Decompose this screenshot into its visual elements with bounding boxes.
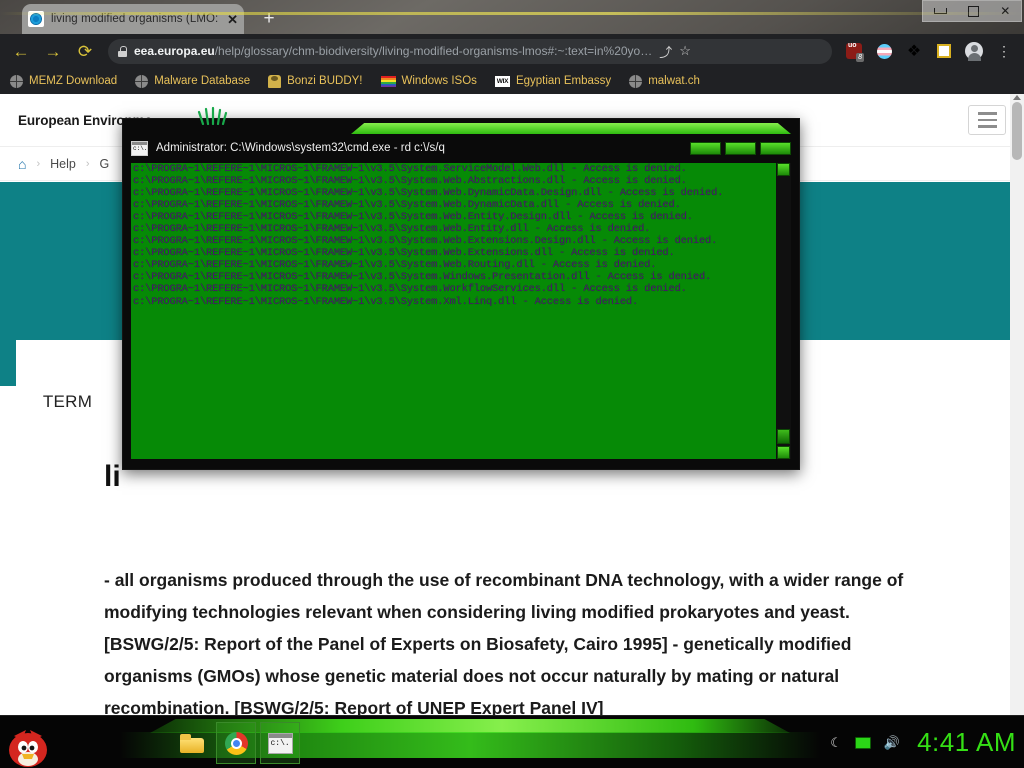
- cmd-scroll-up-arrow-icon[interactable]: [777, 163, 790, 176]
- lock-icon: [118, 46, 127, 57]
- browser-toolbar: ← → ⟳ eea.europa.eu/help/glossary/chm-bi…: [0, 34, 1024, 68]
- reload-button[interactable]: ⟳: [72, 38, 98, 64]
- cmd-window-title: Administrator: C:\Windows\system32\cmd.e…: [156, 142, 682, 154]
- back-button[interactable]: ←: [8, 38, 34, 64]
- bookmark-egyptian-embassy[interactable]: WIX Egyptian Embassy: [495, 75, 611, 87]
- browser-tab[interactable]: living modified organisms (LMO: ✕: [22, 4, 244, 34]
- cmd-close-button[interactable]: [760, 142, 791, 155]
- bookmark-bonzi-buddy[interactable]: Bonzi BUDDY!: [268, 75, 362, 88]
- scroll-up-arrow-icon[interactable]: [1013, 95, 1021, 100]
- chrome-icon: [225, 732, 248, 755]
- bookmark-label: MEMZ Download: [29, 75, 117, 87]
- page-title: li: [104, 460, 121, 494]
- bookmarks-bar: MEMZ Download Malware Database Bonzi BUD…: [0, 68, 1024, 94]
- page-scrollbar[interactable]: [1010, 94, 1024, 715]
- forward-button[interactable]: →: [40, 38, 66, 64]
- wix-icon: WIX: [495, 76, 510, 87]
- screen: living modified organisms (LMO: ✕ + ✕ ← …: [0, 0, 1024, 768]
- cmd-scrollbar[interactable]: [776, 163, 791, 459]
- breadcrumb-item-help[interactable]: Help: [50, 157, 76, 171]
- bookmark-malware-database[interactable]: Malware Database: [135, 75, 250, 88]
- bookmark-star-icon[interactable]: ☆: [679, 43, 691, 59]
- trans-flag-extension-icon[interactable]: [872, 39, 896, 63]
- url-path: /help/glossary/chm-biodiversity/living-m…: [215, 44, 653, 58]
- spray-decoration: [195, 105, 231, 125]
- hamburger-menu-icon[interactable]: [968, 105, 1006, 135]
- taskbar-item-command-prompt[interactable]: [260, 722, 300, 764]
- bookmark-label: Windows ISOs: [402, 75, 477, 87]
- home-icon[interactable]: ⌂: [18, 157, 26, 171]
- bookmark-label: Bonzi BUDDY!: [287, 75, 362, 87]
- cmd-title-bar[interactable]: Administrator: C:\Windows\system32\cmd.e…: [123, 135, 799, 161]
- globe-icon: [629, 75, 642, 88]
- command-prompt-window[interactable]: Administrator: C:\Windows\system32\cmd.e…: [122, 118, 800, 470]
- bookmark-label: Egyptian Embassy: [516, 75, 611, 87]
- window-glow-decoration: [351, 123, 791, 134]
- tab-title: living modified organisms (LMO:: [51, 13, 220, 25]
- new-tab-button[interactable]: +: [258, 9, 280, 31]
- definition-text: - all organisms produced through the use…: [104, 564, 904, 715]
- bookmark-windows-isos[interactable]: Windows ISOs: [381, 75, 477, 87]
- cmd-window-buttons: [690, 142, 791, 155]
- url-text: eea.europa.eu/help/glossary/chm-biodiver…: [134, 44, 652, 58]
- cmd-icon: [268, 733, 293, 754]
- ublock-extension-icon[interactable]: uo8: [842, 39, 866, 63]
- bonzi-icon: [268, 75, 281, 88]
- start-button[interactable]: [6, 722, 58, 768]
- bookmark-label: Malware Database: [154, 75, 250, 87]
- bookmark-memz-download[interactable]: MEMZ Download: [10, 75, 117, 88]
- folder-icon: [180, 734, 204, 753]
- breadcrumb-separator: ›: [36, 158, 40, 170]
- tab-strip: living modified organisms (LMO: ✕ + ✕: [0, 0, 1024, 34]
- close-icon[interactable]: ✕: [1000, 5, 1010, 17]
- breadcrumb-separator: ›: [86, 158, 90, 170]
- cmd-icon: [131, 141, 148, 156]
- rainbow-flag-icon: [381, 76, 396, 87]
- tab-close-icon[interactable]: ✕: [227, 13, 238, 26]
- minimize-icon[interactable]: [934, 8, 947, 14]
- taskbar-item-file-explorer[interactable]: [172, 722, 212, 764]
- taskbar-item-google-chrome[interactable]: [216, 722, 256, 764]
- cmd-scrollbar-thumb[interactable]: [777, 429, 790, 444]
- maximize-icon[interactable]: [968, 6, 979, 17]
- ublock-count-badge: 8: [856, 53, 864, 62]
- side-panel-icon[interactable]: [932, 39, 956, 63]
- taskbar-items: [172, 722, 300, 764]
- action-center-icon[interactable]: ☾: [830, 736, 842, 749]
- extensions-puzzle-icon[interactable]: ❖: [902, 39, 926, 63]
- bookmark-label: malwat.ch: [648, 75, 700, 87]
- network-monitor-icon[interactable]: [855, 737, 871, 749]
- cmd-maximize-button[interactable]: [725, 142, 756, 155]
- ublock-label: uo: [848, 42, 857, 49]
- breadcrumb-item-glossary[interactable]: G: [100, 157, 110, 171]
- scrollbar-thumb[interactable]: [1012, 102, 1022, 160]
- chrome-menu-icon[interactable]: ⋮: [992, 39, 1016, 63]
- address-bar[interactable]: eea.europa.eu/help/glossary/chm-biodiver…: [108, 39, 832, 64]
- window-controls: ✕: [922, 0, 1022, 22]
- cmd-output-text: c:\PROGRA~1\REFERE~1\MICROS~1\FRAMEW~1\v…: [133, 163, 775, 308]
- cmd-minimize-button[interactable]: [690, 142, 721, 155]
- favicon-icon: [28, 11, 44, 27]
- taskbar: ☾ 🔊 4:41 AM: [0, 715, 1024, 768]
- volume-icon[interactable]: 🔊: [884, 736, 900, 749]
- globe-icon: [10, 75, 23, 88]
- cmd-console-body[interactable]: c:\PROGRA~1\REFERE~1\MICROS~1\FRAMEW~1\v…: [131, 163, 791, 459]
- profile-avatar-icon[interactable]: [962, 39, 986, 63]
- cmd-scroll-down-arrow-icon[interactable]: [777, 446, 790, 459]
- status-badge: TERM: [16, 384, 119, 420]
- system-tray: ☾ 🔊 4:41 AM: [830, 716, 1016, 768]
- taskbar-clock[interactable]: 4:41 AM: [917, 727, 1016, 758]
- globe-icon: [135, 75, 148, 88]
- bookmark-malwat-ch[interactable]: malwat.ch: [629, 75, 700, 88]
- url-domain: eea.europa.eu: [134, 44, 215, 58]
- share-icon[interactable]: ⤴: [659, 42, 672, 61]
